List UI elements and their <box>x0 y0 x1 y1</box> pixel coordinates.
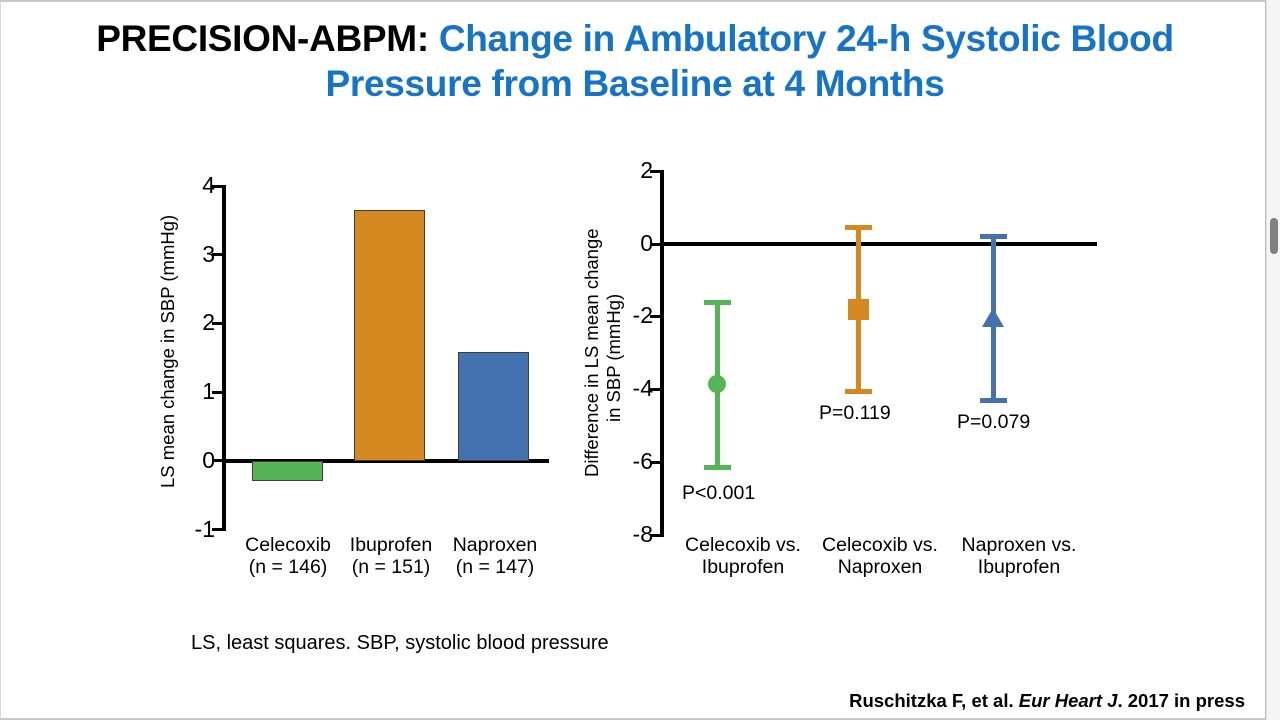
page-title-rest: Change in Ambulatory 24-h Systolic Blood… <box>326 18 1174 104</box>
vertical-scrollbar[interactable] <box>1266 0 1280 720</box>
marker-naproxen-vs-ibuprofen <box>982 308 1004 327</box>
error-bar-chart-difference: Difference in LS mean change in SBP (mmH… <box>579 152 1159 592</box>
left-chart-tick-1 <box>212 391 222 394</box>
page-title: PRECISION-ABPM: Change in Ambulatory 24-… <box>45 16 1225 106</box>
right-chart-xtick-celecoxib-vs-ibuprofen: Celecoxib vs. Ibuprofen <box>663 534 823 579</box>
left-chart-tick-4 <box>212 185 222 188</box>
right-chart-y-axis-title-line2: in SBP (mmHg) <box>603 238 625 478</box>
right-chart-tick-2 <box>650 170 660 173</box>
errorbar-cap-lower-celecoxib-vs-naproxen <box>845 389 872 394</box>
right-chart-ytick-neg4: -4 <box>617 377 653 400</box>
left-chart-xtick-naproxen-name: Naproxen <box>431 534 559 556</box>
right-chart-ytick-neg2: -2 <box>617 304 653 327</box>
errorbar-cap-upper-naproxen-vs-ibuprofen <box>980 234 1007 239</box>
left-chart-tick-0 <box>212 459 222 462</box>
left-chart-tick-3 <box>212 253 222 256</box>
left-chart-ytick-4: 4 <box>187 174 215 197</box>
marker-celecoxib-vs-naproxen <box>848 299 869 320</box>
errorbar-cap-upper-celecoxib-vs-ibuprofen <box>704 300 731 305</box>
right-chart-y-axis-title-line1: Difference in LS mean change <box>581 188 603 518</box>
bar-naproxen <box>458 352 529 461</box>
right-chart-xtick-3-line1: Naproxen vs. <box>939 534 1099 556</box>
left-chart-ytick-neg1: -1 <box>179 518 215 541</box>
right-chart-xtick-3-line2: Ibuprofen <box>939 556 1099 578</box>
errorbar-cap-lower-naproxen-vs-ibuprofen <box>980 398 1007 403</box>
right-chart-xtick-naproxen-vs-ibuprofen: Naproxen vs. Ibuprofen <box>939 534 1099 579</box>
right-chart-xtick-2-line2: Naproxen <box>800 556 960 578</box>
left-chart-tick-2 <box>212 322 222 325</box>
right-chart-tick-neg8 <box>650 534 660 537</box>
citation-suffix: . 2017 in press <box>1117 690 1245 711</box>
right-chart-ytick-2: 2 <box>625 159 653 182</box>
bar-ibuprofen <box>354 210 425 461</box>
right-chart-zero-reference-line <box>660 242 1097 246</box>
marker-celecoxib-vs-ibuprofen <box>708 375 726 393</box>
page-title-lead: PRECISION-ABPM: <box>96 18 429 59</box>
citation-journal: Eur Heart J <box>1019 690 1118 711</box>
errorbar-cap-upper-celecoxib-vs-naproxen <box>845 225 872 230</box>
p-value-naproxen-vs-ibuprofen: P=0.079 <box>957 411 1030 434</box>
right-chart-ytick-neg6: -6 <box>617 450 653 473</box>
left-chart-y-axis-title: LS mean change in SBP (mmHg) <box>157 171 179 531</box>
right-chart-tick-0 <box>650 243 660 246</box>
left-chart-xtick-naproxen-n: (n = 147) <box>431 556 559 578</box>
right-chart-xtick-1-line2: Ibuprofen <box>663 556 823 578</box>
scrollbar-thumb[interactable] <box>1270 218 1278 254</box>
right-chart-tick-neg2 <box>650 315 660 318</box>
errorbar-cap-lower-celecoxib-vs-ibuprofen <box>704 465 731 470</box>
right-chart-xtick-2-line1: Celecoxib vs. <box>800 534 960 556</box>
right-chart-tick-neg4 <box>650 388 660 391</box>
bar-celecoxib <box>252 461 323 481</box>
right-chart-ytick-0: 0 <box>625 232 653 255</box>
right-chart-xtick-1-line1: Celecoxib vs. <box>663 534 823 556</box>
citation-authors: Ruschitzka F, et al. <box>849 690 1019 711</box>
citation: Ruschitzka F, et al. Eur Heart J. 2017 i… <box>849 690 1245 712</box>
bar-chart-ls-mean-change: LS mean change in SBP (mmHg) 4 3 2 1 0 -… <box>151 157 571 587</box>
left-chart-ytick-1: 1 <box>187 380 215 403</box>
left-chart-tick-neg1 <box>212 528 222 531</box>
right-chart-ytick-neg8: -8 <box>617 523 653 546</box>
p-value-celecoxib-vs-ibuprofen: P<0.001 <box>682 482 755 505</box>
right-chart-xtick-celecoxib-vs-naproxen: Celecoxib vs. Naproxen <box>800 534 960 579</box>
left-chart-ytick-0: 0 <box>187 449 215 472</box>
left-chart-ytick-2: 2 <box>187 311 215 334</box>
right-chart-tick-neg6 <box>650 461 660 464</box>
footnote-abbreviations: LS, least squares. SBP, systolic blood p… <box>191 632 609 655</box>
left-chart-xtick-naproxen: Naproxen (n = 147) <box>431 534 559 579</box>
left-chart-y-axis-line <box>222 185 226 531</box>
left-chart-ytick-3: 3 <box>187 243 215 266</box>
slide-canvas: PRECISION-ABPM: Change in Ambulatory 24-… <box>0 0 1266 720</box>
p-value-celecoxib-vs-naproxen: P=0.119 <box>819 402 891 425</box>
right-chart-y-axis-line <box>660 170 664 537</box>
